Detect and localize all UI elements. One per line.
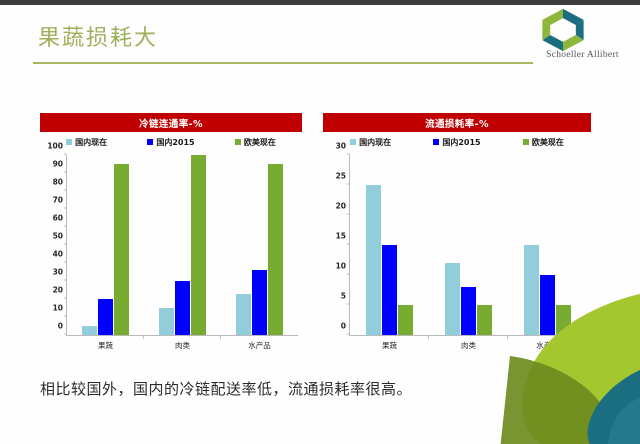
y-axis-tick-label: 10 bbox=[53, 304, 63, 313]
bar-group: 果蔬 bbox=[350, 155, 429, 335]
y-axis-tick-label: 70 bbox=[53, 196, 63, 205]
bar-group: 肉类 bbox=[429, 155, 508, 335]
bar bbox=[159, 308, 174, 335]
title-divider bbox=[33, 62, 533, 64]
y-axis-tick-label: 10 bbox=[336, 262, 346, 271]
brand-logo: Schoeller Allibert bbox=[530, 8, 635, 66]
chart-2-title-bar: 流通损耗率-% bbox=[323, 113, 591, 132]
legend-label: 国内2015 bbox=[442, 137, 480, 148]
chart-2-plot: 051015202530 果蔬肉类水产品 bbox=[323, 151, 591, 358]
y-axis-tick-label: 0 bbox=[341, 322, 346, 331]
bar bbox=[175, 281, 190, 335]
bar bbox=[477, 305, 492, 335]
bar-group: 肉类 bbox=[144, 155, 221, 335]
y-axis-tick-label: 5 bbox=[341, 292, 346, 301]
bar-group: 水产品 bbox=[508, 155, 587, 335]
bar-group: 果蔬 bbox=[67, 155, 144, 335]
legend-swatch-icon bbox=[350, 139, 356, 145]
legend-swatch-icon bbox=[66, 139, 72, 145]
legend-label: 国内2015 bbox=[156, 137, 194, 148]
chart-1-title: 冷链连通率-% bbox=[139, 116, 203, 130]
y-axis-tick-label: 50 bbox=[53, 232, 63, 241]
chart-cold-chain-rate: 冷链连通率-% 国内现在 国内2015 欧美现在 010203040506070… bbox=[40, 113, 302, 358]
y-axis-tick-label: 90 bbox=[53, 160, 63, 169]
legend-item: 国内2015 bbox=[433, 137, 480, 148]
bar bbox=[98, 299, 113, 335]
x-axis-category-label: 水产品 bbox=[248, 340, 271, 351]
legend-item: 国内现在 bbox=[66, 137, 107, 148]
top-window-bar bbox=[0, 0, 640, 5]
legend-item: 欧美现在 bbox=[235, 137, 276, 148]
bar bbox=[82, 326, 97, 335]
legend-swatch-icon bbox=[235, 139, 241, 145]
bar bbox=[366, 185, 381, 335]
y-axis-tick-label: 100 bbox=[47, 142, 63, 151]
y-axis-tick-label: 40 bbox=[53, 250, 63, 259]
x-axis-category-label: 果蔬 bbox=[98, 340, 113, 351]
chart-circulation-loss-rate: 流通损耗率-% 国内现在 国内2015 欧美现在 051015202530 果蔬… bbox=[323, 113, 591, 358]
slide-caption: 相比较国外，国内的冷链配送率低，流通损耗率很高。 bbox=[40, 378, 412, 399]
bar bbox=[524, 245, 539, 335]
chart-2-axes: 051015202530 果蔬肉类水产品 bbox=[349, 155, 587, 336]
bar bbox=[252, 270, 267, 335]
x-axis-tick-mark bbox=[507, 335, 508, 339]
legend-label: 欧美现在 bbox=[244, 137, 276, 148]
y-axis-tick-label: 30 bbox=[53, 268, 63, 277]
legend-swatch-icon bbox=[147, 139, 153, 145]
y-axis-tick-label: 80 bbox=[53, 178, 63, 187]
y-axis-tick-label: 0 bbox=[58, 322, 63, 331]
x-axis-tick-mark bbox=[428, 335, 429, 339]
y-axis-tick-label: 20 bbox=[53, 286, 63, 295]
bar bbox=[114, 164, 129, 335]
legend-label: 国内现在 bbox=[75, 137, 107, 148]
chart-1-title-bar: 冷链连通率-% bbox=[40, 113, 302, 132]
chart-2-bars: 果蔬肉类水产品 bbox=[350, 155, 587, 335]
bar bbox=[398, 305, 413, 335]
bar bbox=[382, 245, 397, 335]
brand-name: Schoeller Allibert bbox=[530, 50, 635, 60]
x-axis-tick-mark bbox=[220, 335, 221, 339]
x-axis-category-label: 果蔬 bbox=[382, 340, 397, 351]
y-axis-tick-label: 15 bbox=[336, 232, 346, 241]
chart-1-plot: 0102030405060708090100 果蔬肉类水产品 bbox=[40, 151, 302, 358]
legend-item: 国内2015 bbox=[147, 137, 194, 148]
bar bbox=[236, 294, 251, 335]
legend-swatch-icon bbox=[523, 139, 529, 145]
legend-item: 欧美现在 bbox=[523, 137, 564, 148]
legend-swatch-icon bbox=[433, 139, 439, 145]
x-axis-category-label: 肉类 bbox=[175, 340, 190, 351]
y-axis-tick-label: 25 bbox=[336, 172, 346, 181]
legend-item: 国内现在 bbox=[350, 137, 391, 148]
bar bbox=[191, 155, 206, 335]
legend-label: 欧美现在 bbox=[532, 137, 564, 148]
chart-1-legend: 国内现在 国内2015 欧美现在 bbox=[40, 135, 302, 149]
schoeller-allibert-hexagon-logo bbox=[540, 8, 586, 52]
chart-1-axes: 0102030405060708090100 果蔬肉类水产品 bbox=[66, 155, 298, 336]
y-axis-tick-label: 30 bbox=[336, 142, 346, 151]
page-title: 果蔬损耗大 bbox=[38, 20, 158, 52]
slide: 果蔬损耗大 Schoeller Allibert 冷链连通率-% 国内现在 国内… bbox=[0, 0, 640, 444]
bar bbox=[540, 275, 555, 335]
bar bbox=[268, 164, 283, 335]
bar-group: 水产品 bbox=[221, 155, 298, 335]
bar bbox=[461, 287, 476, 335]
x-axis-tick-mark bbox=[143, 335, 144, 339]
chart-2-title: 流通损耗率-% bbox=[425, 116, 489, 130]
bar bbox=[445, 263, 460, 335]
chart-2-legend: 国内现在 国内2015 欧美现在 bbox=[323, 135, 591, 149]
y-axis-tick-label: 20 bbox=[336, 202, 346, 211]
chart-1-bars: 果蔬肉类水产品 bbox=[67, 155, 298, 335]
bar bbox=[556, 305, 571, 335]
x-axis-category-label: 肉类 bbox=[461, 340, 476, 351]
x-axis-category-label: 水产品 bbox=[536, 340, 559, 351]
y-axis-tick-label: 60 bbox=[53, 214, 63, 223]
legend-label: 国内现在 bbox=[359, 137, 391, 148]
